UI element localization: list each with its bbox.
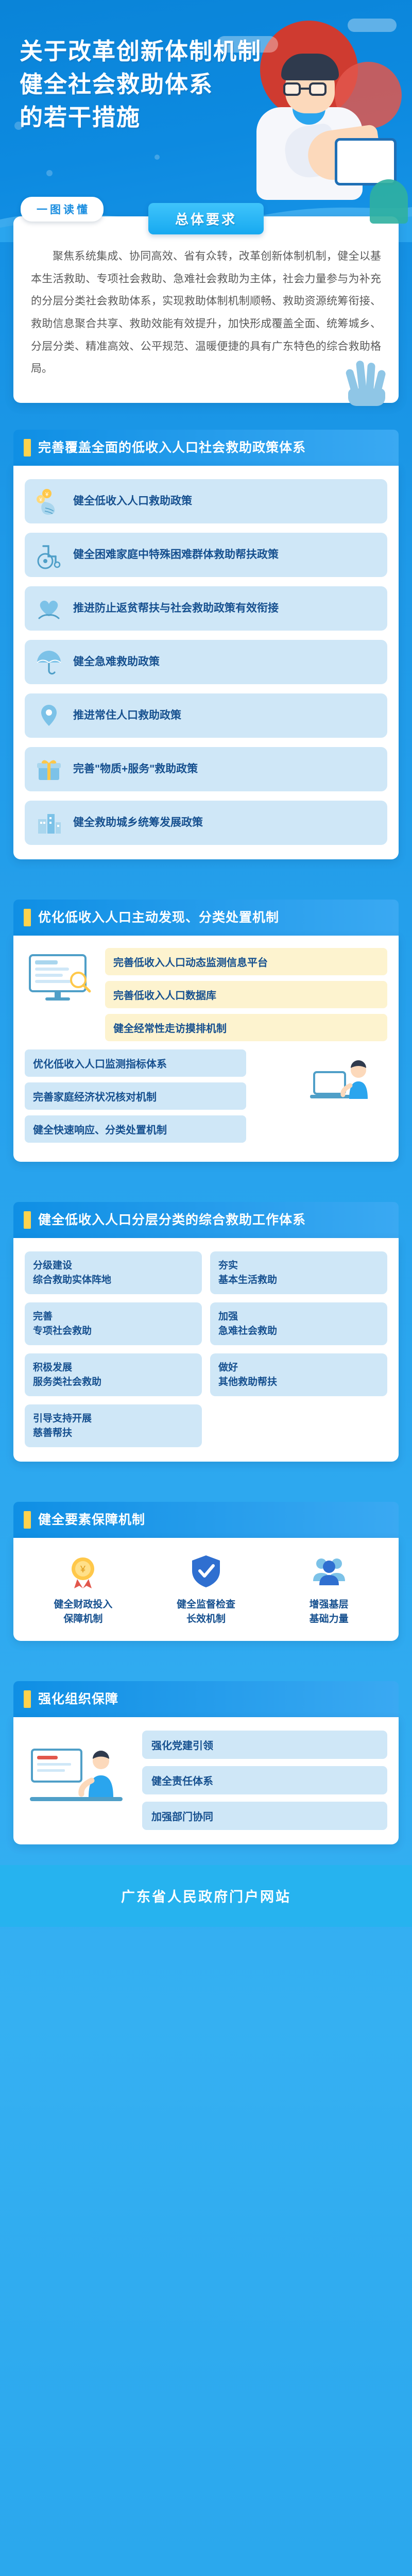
- medal-icon: ¥: [63, 1551, 103, 1591]
- svg-text:¥: ¥: [39, 497, 42, 503]
- svg-text:¥: ¥: [45, 492, 49, 498]
- monitor-illustration-icon: [25, 948, 97, 1010]
- section-title-bar: 健全低收入人口分层分类的综合救助工作体系: [13, 1202, 399, 1238]
- list-item-label: 健全困难家庭中特殊困难群体救助帮扶政策: [73, 547, 279, 562]
- grid-card[interactable]: 引导支持开展慈善帮扶: [25, 1404, 202, 1447]
- grid-card[interactable]: 分级建设综合救助实体阵地: [25, 1251, 202, 1294]
- column-item[interactable]: 健全监督检查长效机制: [148, 1551, 265, 1626]
- list-item-label: 健全急难救助政策: [73, 654, 160, 669]
- title-line-2: 健全社会救助体系: [20, 68, 262, 101]
- list-item-label: 推进常住人口救助政策: [73, 708, 181, 723]
- grid-card[interactable]: 加强急难社会救助: [210, 1302, 387, 1345]
- section-discovery-mechanism: 优化低收入人口主动发现、分类处置机制: [0, 900, 412, 1162]
- list-item[interactable]: 健全快速响应、分类处置机制: [25, 1115, 246, 1143]
- section-body: ¥ 健全财政投入保障机制 健全监督检查长效机制: [13, 1538, 399, 1640]
- grid-card[interactable]: 夯实基本生活救助: [210, 1251, 387, 1294]
- section-body: 分级建设综合救助实体阵地 夯实基本生活救助 完善专项社会救助 加强急难社会救助 …: [13, 1238, 399, 1462]
- section-title-bar: 优化低收入人口主动发现、分类处置机制: [13, 900, 399, 936]
- person-hair: [281, 54, 339, 80]
- list-item[interactable]: 健全责任体系: [142, 1766, 387, 1794]
- grid-card[interactable]: 完善专项社会救助: [25, 1302, 202, 1345]
- section-body: ¥ ¥ 健全低收入人口救助政策 健全困难家庭中特殊困难群体救助帮扶政策: [13, 466, 399, 859]
- section-body: 强化党建引领 健全责任体系 加强部门协同: [13, 1717, 399, 1844]
- meeting-illustration: [25, 1736, 133, 1824]
- section-policy-system: 完善覆盖全面的低收入人口社会救助政策体系 ¥ ¥ 健全低收入人口救助政策: [0, 430, 412, 859]
- site-footer: 广东省人民政府门户网站: [0, 1865, 412, 1927]
- column-label: 健全监督检查长效机制: [148, 1598, 265, 1626]
- glasses-left-icon: [283, 82, 301, 96]
- section-organization: 强化组织保障: [0, 1681, 412, 1844]
- section-body: 完善低收入人口动态监测信息平台 完善低收入人口数据库 健全经常性走访摸排机制 优…: [13, 936, 399, 1162]
- list-item[interactable]: 优化低收入人口监测指标体系: [25, 1049, 246, 1077]
- section-title-text: 优化低收入人口主动发现、分类处置机制: [38, 909, 279, 926]
- list-item[interactable]: 完善家庭经济状况核对机制: [25, 1082, 246, 1110]
- glasses-right-icon: [309, 82, 327, 96]
- column-label: 增强基层基础力量: [270, 1598, 387, 1626]
- tablet-icon: [335, 138, 397, 185]
- coins-hand-icon: ¥ ¥: [34, 486, 64, 516]
- person-at-desk-illustration: [305, 1052, 382, 1113]
- section-accent-bar: [24, 1211, 31, 1229]
- svg-text:¥: ¥: [80, 1564, 86, 1574]
- section-tiered-classified: 健全低收入人口分层分类的综合救助工作体系 分级建设综合救助实体阵地 夯实基本生活…: [0, 1202, 412, 1462]
- list-item-label: 健全救助城乡统筹发展政策: [73, 815, 203, 830]
- list-item[interactable]: 健全困难家庭中特殊困难群体救助帮扶政策: [25, 533, 387, 577]
- section-title-text: 完善覆盖全面的低收入人口社会救助政策体系: [38, 439, 306, 456]
- section-accent-bar: [24, 909, 31, 926]
- section-guarantee-mechanism: 健全要素保障机制 ¥ 健全财政投入保障机制: [0, 1502, 412, 1640]
- column-item[interactable]: 增强基层基础力量: [270, 1551, 387, 1626]
- people-group-icon: [309, 1551, 349, 1591]
- column-item[interactable]: ¥ 健全财政投入保障机制: [25, 1551, 142, 1626]
- column-label: 健全财政投入保障机制: [25, 1598, 142, 1626]
- cloud-icon: [348, 19, 397, 32]
- section-accent-bar: [24, 1690, 31, 1708]
- wheelchair-icon: [34, 540, 64, 570]
- glasses-bridge-icon: [300, 88, 309, 90]
- section-title-text: 健全低收入人口分层分类的综合救助工作体系: [38, 1211, 306, 1229]
- footer-site-name: 广东省人民政府门户网站: [121, 1886, 291, 1906]
- page-title: 关于改革创新体制机制 健全社会救助体系 的若干措施: [20, 35, 262, 134]
- overall-requirement-text: 聚焦系统集成、协同高效、省有众转，改革创新体制机制，健全以基本生活救助、专项社会…: [31, 245, 381, 380]
- list-item-label: 完善"物质+服务"救助政策: [73, 761, 198, 776]
- list-item-label: 推进防止返贫帮扶与社会救助政策有效衔接: [73, 601, 279, 616]
- read-infographic-badge[interactable]: 一图读懂: [21, 197, 104, 222]
- section-accent-bar: [24, 439, 31, 456]
- city-buildings-icon: [34, 808, 64, 838]
- card-grid: 分级建设综合救助实体阵地 夯实基本生活救助 完善专项社会救助 加强急难社会救助 …: [25, 1251, 387, 1447]
- hero-header: 关于改革创新体制机制 健全社会救助体系 的若干措施 一图读懂: [0, 0, 412, 242]
- title-line-1: 关于改革创新体制机制: [20, 35, 262, 68]
- list-item[interactable]: 健全急难救助政策: [25, 640, 387, 684]
- list-item[interactable]: 强化党建引领: [142, 1731, 387, 1759]
- overall-requirement-card: 总体要求 聚焦系统集成、协同高效、省有众转，改革创新体制机制，健全以基本生活救助…: [13, 216, 399, 403]
- section-title-text: 健全要素保障机制: [38, 1511, 145, 1529]
- section-accent-bar: [24, 1511, 31, 1529]
- section-title-bar: 健全要素保障机制: [13, 1502, 399, 1538]
- list-item[interactable]: 推进防止返贫帮扶与社会救助政策有效衔接: [25, 586, 387, 631]
- list-item[interactable]: 完善"物质+服务"救助政策: [25, 747, 387, 791]
- grid-card[interactable]: 做好其他救助帮扶: [210, 1353, 387, 1396]
- hand-illustration-icon: [345, 349, 389, 406]
- list-item[interactable]: 完善低收入人口动态监测信息平台: [105, 948, 387, 975]
- list-item-label: 健全低收入人口救助政策: [73, 494, 192, 509]
- gift-box-icon: [34, 754, 64, 784]
- list-item[interactable]: 完善低收入人口数据库: [105, 981, 387, 1008]
- list-item[interactable]: ¥ ¥ 健全低收入人口救助政策: [25, 479, 387, 523]
- list-item[interactable]: 加强部门协同: [142, 1802, 387, 1830]
- section-title-bar: 完善覆盖全面的低收入人口社会救助政策体系: [13, 430, 399, 466]
- umbrella-icon: [34, 647, 64, 677]
- grid-card[interactable]: 积极发展服务类社会救助: [25, 1353, 202, 1396]
- list-item[interactable]: 健全经常性走访摸排机制: [105, 1014, 387, 1041]
- list-item[interactable]: 健全救助城乡统筹发展政策: [25, 801, 387, 845]
- section-title-bar: 强化组织保障: [13, 1681, 399, 1717]
- location-pin-icon: [34, 701, 64, 731]
- heart-hands-icon: [34, 594, 64, 623]
- section-title-text: 强化组织保障: [38, 1690, 118, 1708]
- infographic-page: 关于改革创新体制机制 健全社会救助体系 的若干措施 一图读懂 总体要求 聚焦系统…: [0, 0, 412, 2576]
- shield-check-icon: [186, 1551, 226, 1591]
- plant-icon: [370, 179, 408, 224]
- list-item[interactable]: 推进常住人口救助政策: [25, 693, 387, 738]
- title-line-3: 的若干措施: [20, 101, 262, 134]
